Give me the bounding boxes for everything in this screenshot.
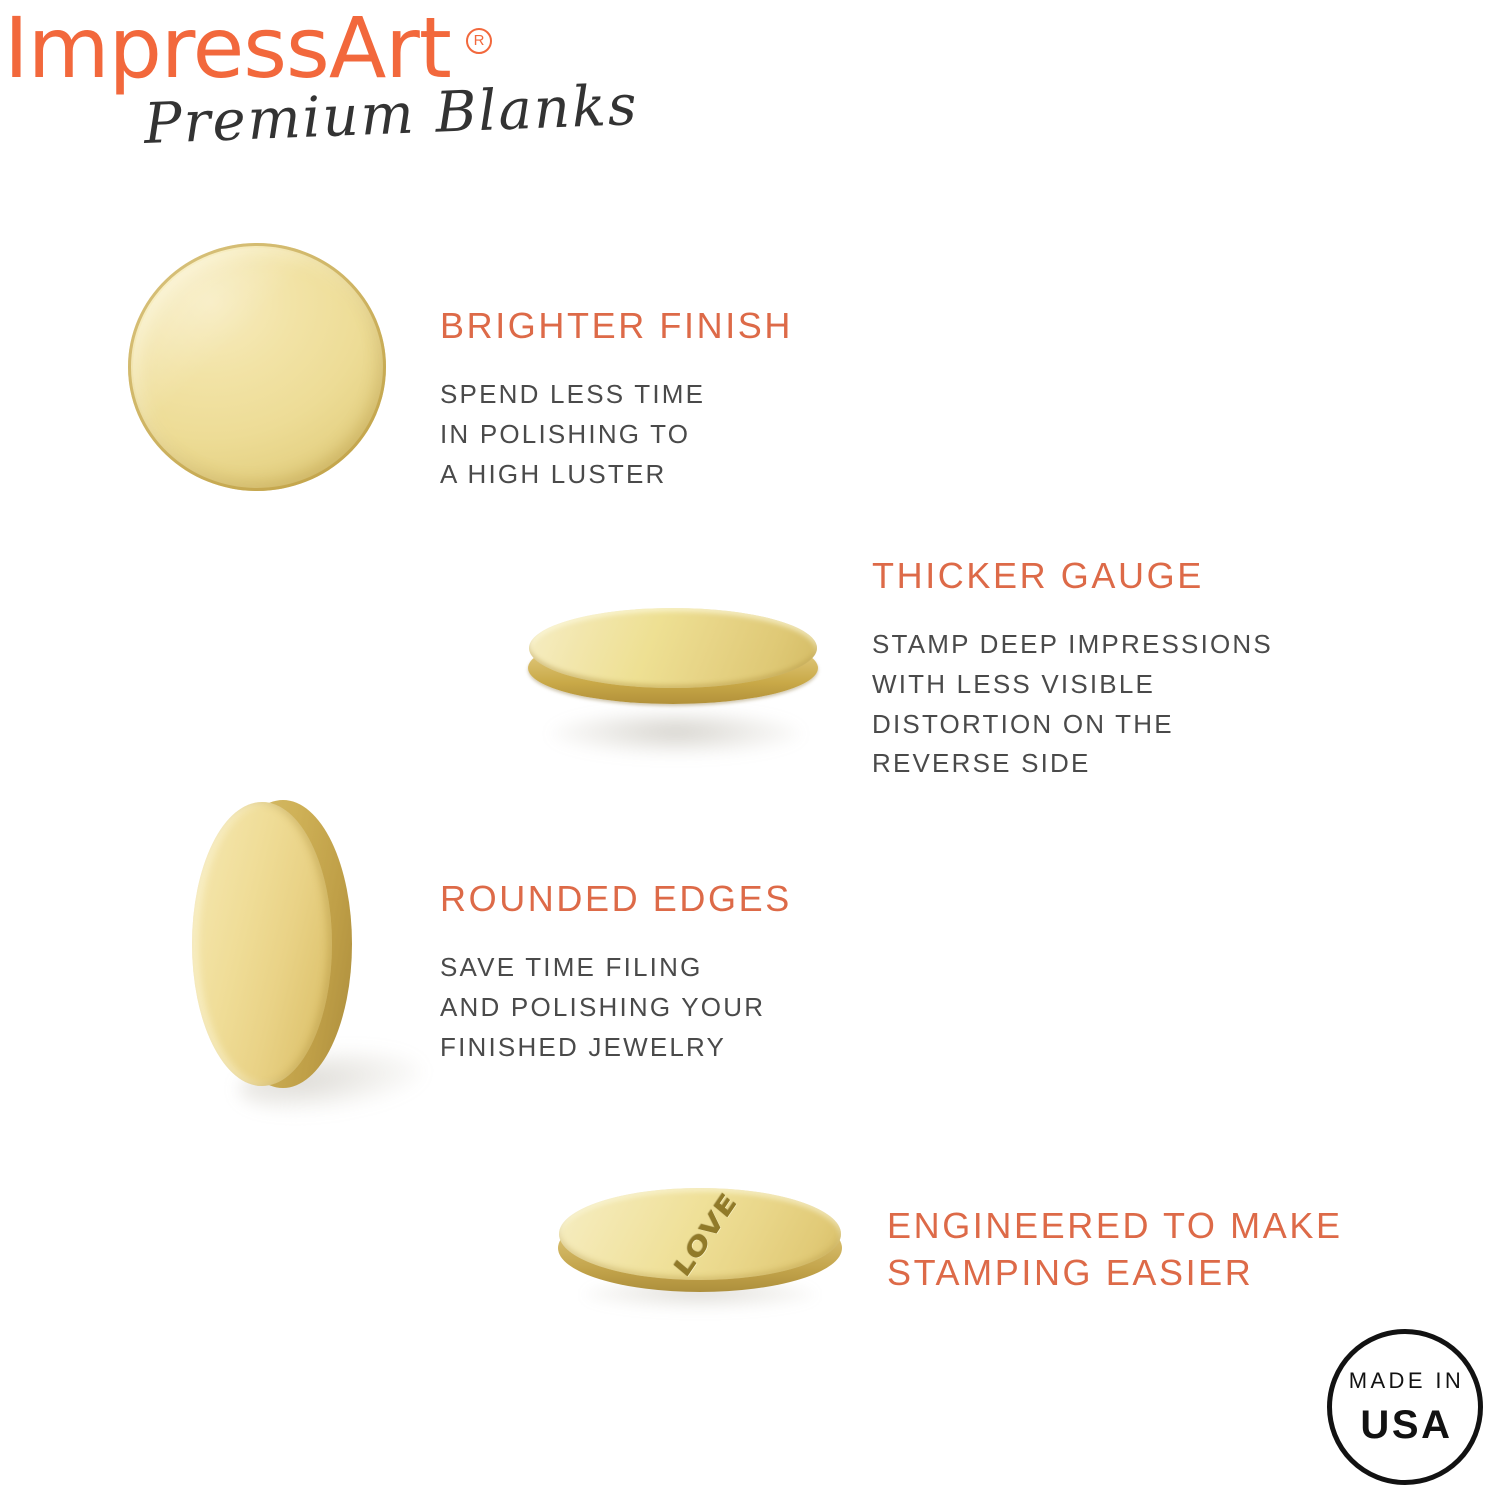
feature-body-line: DISTORTION ON THE: [872, 705, 1273, 745]
feature-thicker-gauge: THICKER GAUGE STAMP DEEP IMPRESSIONS WIT…: [872, 555, 1273, 784]
feature-heading: THICKER GAUGE: [872, 555, 1273, 597]
badge-line-made-in: MADE IN: [1346, 1370, 1464, 1392]
feature-body-line: AND POLISHING YOUR: [440, 988, 792, 1028]
feature-heading: BRIGHTER FINISH: [440, 305, 793, 347]
gold-disc-face: [529, 608, 817, 688]
feature-body: SPEND LESS TIME IN POLISHING TO A HIGH L…: [440, 375, 793, 494]
gold-disc-face: [192, 802, 332, 1086]
feature-body: SAVE TIME FILING AND POLISHING YOUR FINI…: [440, 948, 792, 1067]
product-image-tilted-disc: [528, 608, 818, 738]
feature-brighter-finish: BRIGHTER FINISH SPEND LESS TIME IN POLIS…: [440, 305, 793, 494]
feature-heading-line: STAMPING EASIER: [887, 1250, 1343, 1297]
feature-heading-line: ENGINEERED TO MAKE: [887, 1203, 1343, 1250]
feature-heading: ROUNDED EDGES: [440, 878, 792, 920]
feature-body-line: FINISHED JEWELRY: [440, 1028, 792, 1068]
product-infographic: ImpressArt R Premium Blanks BRIGHTER FIN…: [0, 0, 1493, 1500]
feature-body-line: REVERSE SIDE: [872, 744, 1273, 784]
disc-drop-shadow: [550, 712, 802, 756]
made-in-usa-badge: MADE IN USA: [1327, 1329, 1483, 1485]
feature-body: STAMP DEEP IMPRESSIONS WITH LESS VISIBLE…: [872, 625, 1273, 783]
feature-body-line: SPEND LESS TIME: [440, 375, 793, 415]
product-image-flat-disc: [128, 243, 386, 491]
feature-engineered-stamping: ENGINEERED TO MAKE STAMPING EASIER: [887, 1203, 1343, 1297]
gold-disc-face: [128, 243, 386, 491]
badge-line-usa: USA: [1357, 1405, 1452, 1445]
registered-trademark-icon: R: [466, 28, 492, 54]
product-image-standing-disc: [192, 800, 352, 1090]
feature-body-line: SAVE TIME FILING: [440, 948, 792, 988]
feature-body-line: STAMP DEEP IMPRESSIONS: [872, 625, 1273, 665]
brand-wordmark: ImpressArt: [4, 4, 451, 92]
feature-body-line: IN POLISHING TO: [440, 415, 793, 455]
product-image-stamped-disc: LOVE: [558, 1188, 842, 1300]
feature-body-line: A HIGH LUSTER: [440, 455, 793, 495]
brand-logo: ImpressArt R Premium Blanks: [4, 6, 624, 171]
feature-body-line: WITH LESS VISIBLE: [872, 665, 1273, 705]
feature-rounded-edges: ROUNDED EDGES SAVE TIME FILING AND POLIS…: [440, 878, 792, 1067]
feature-heading: ENGINEERED TO MAKE STAMPING EASIER: [887, 1203, 1343, 1297]
